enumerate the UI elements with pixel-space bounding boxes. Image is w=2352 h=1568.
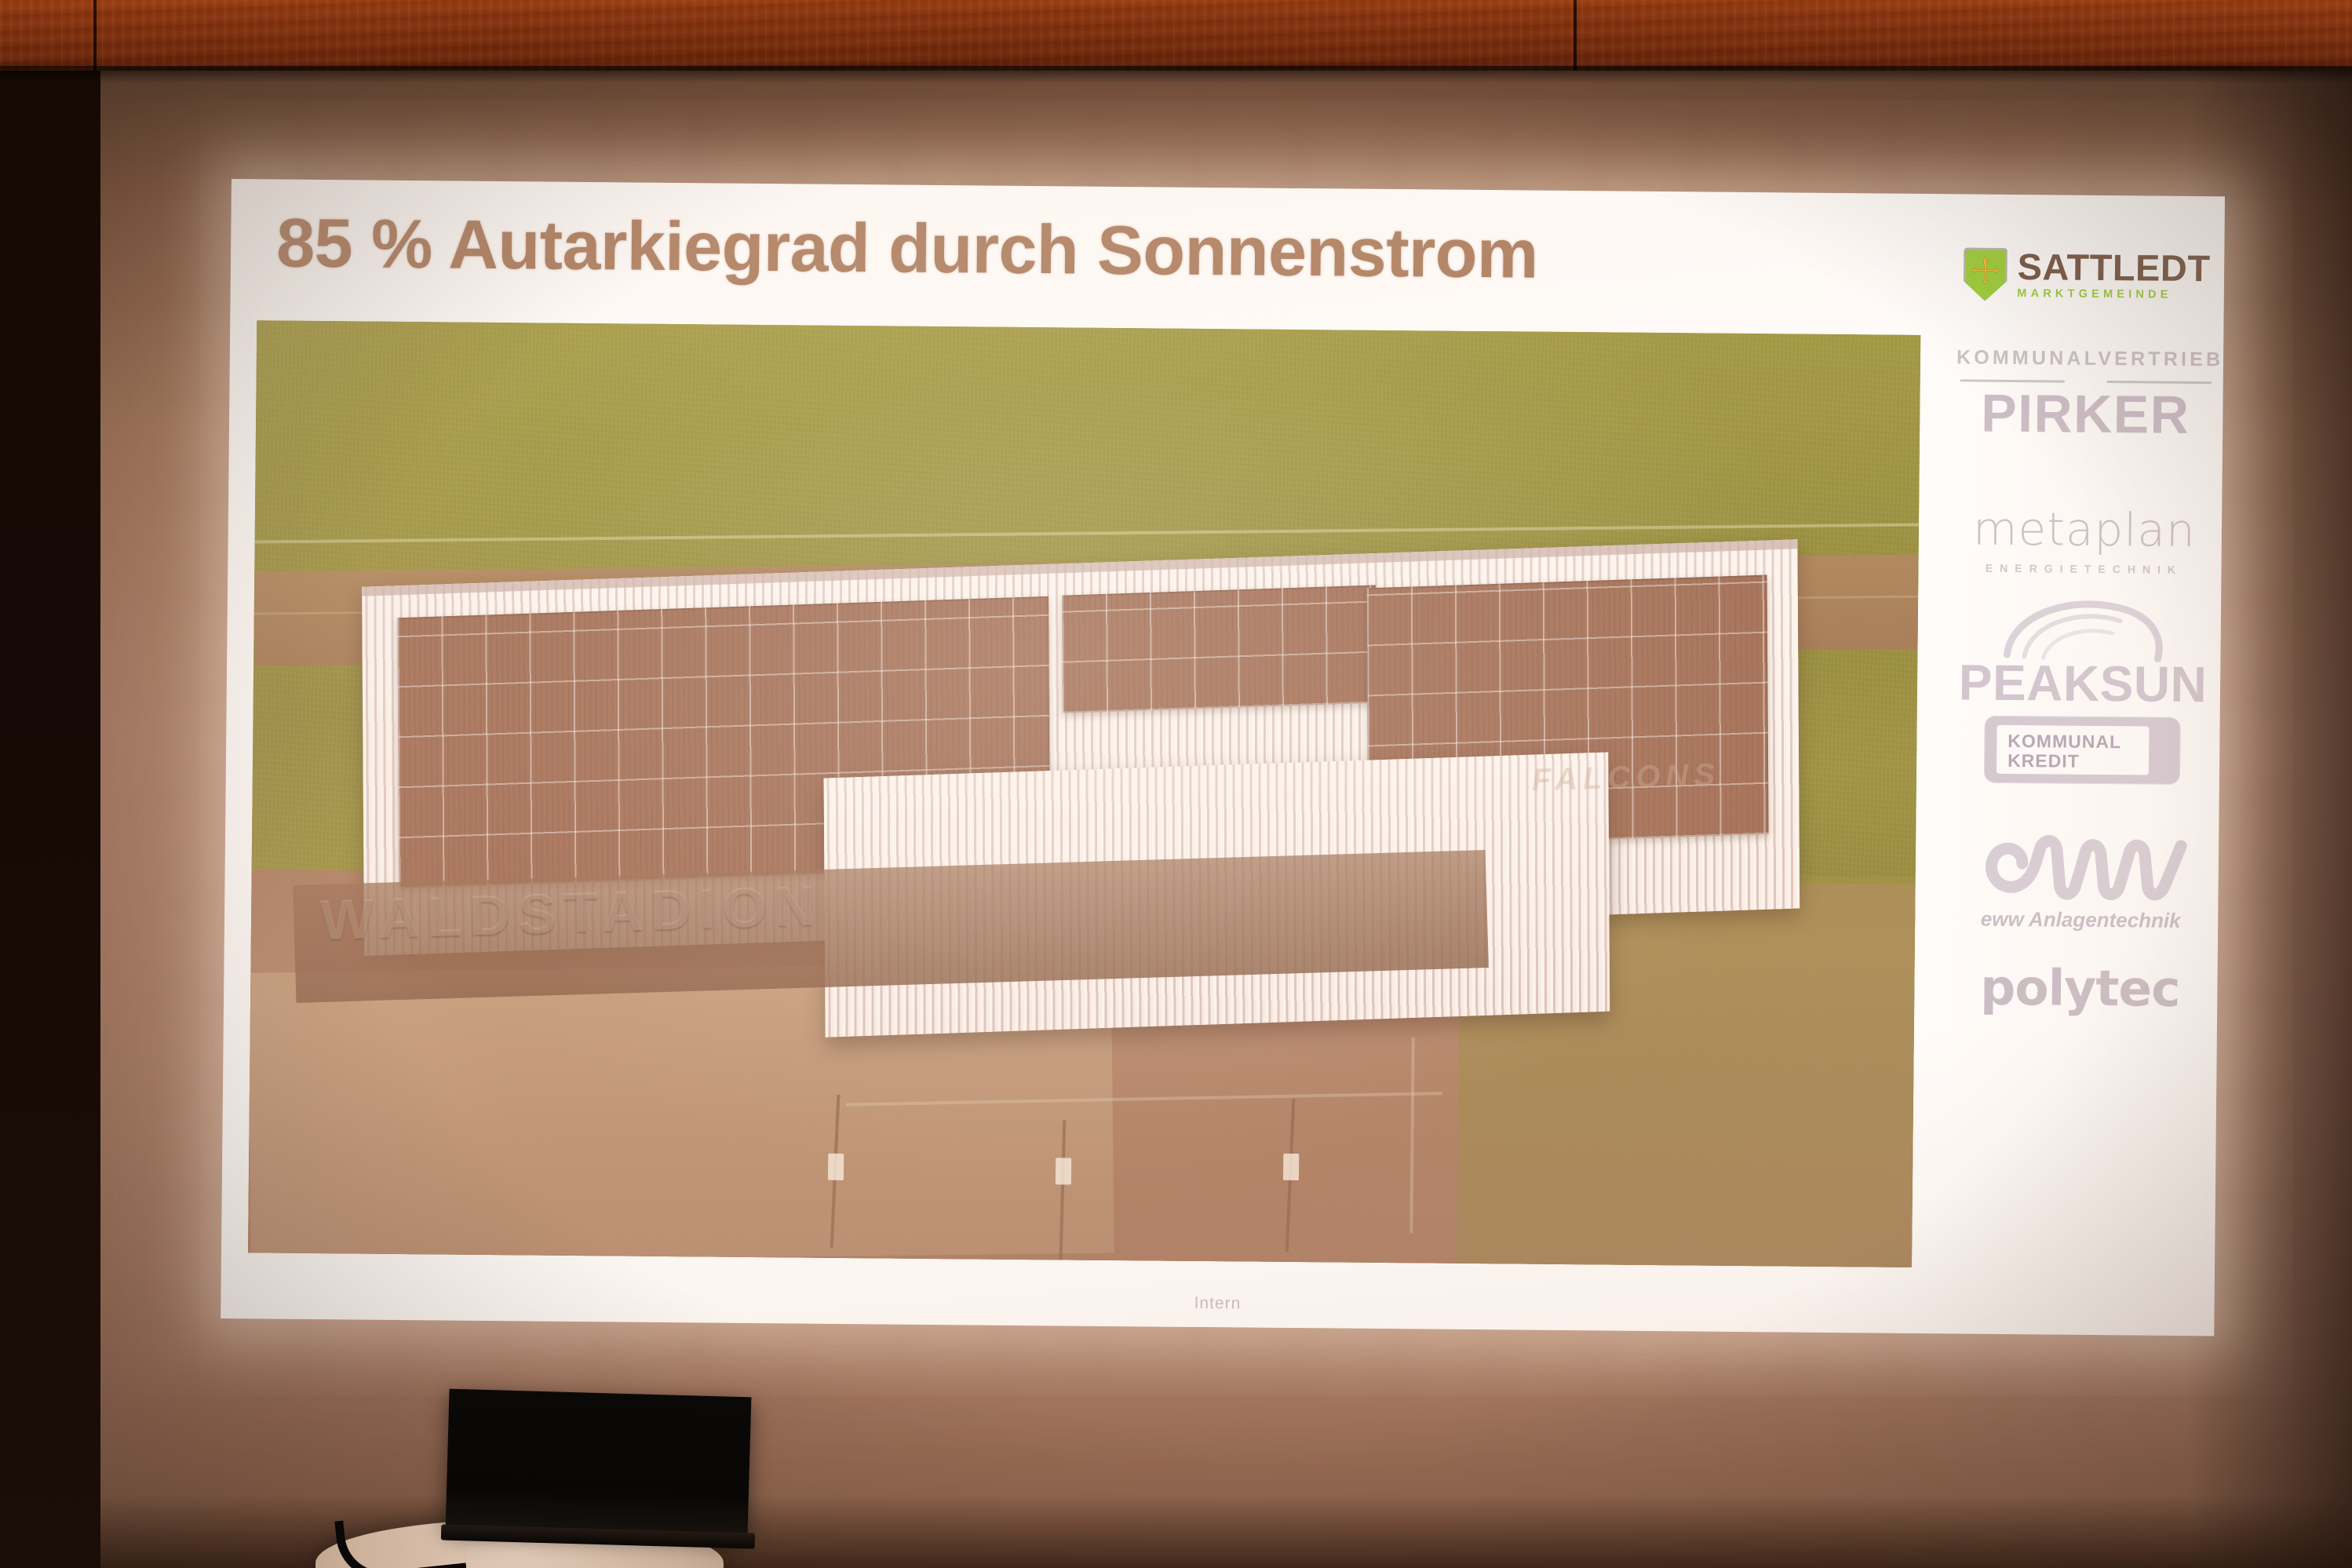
pirker-tagline: KOMMUNALVERTRIEB <box>1956 346 2215 371</box>
flagpole-head <box>1056 1158 1071 1184</box>
logo-sattledt: SATTLEDT MARKTGEMEINDE <box>1957 235 2217 315</box>
eww-script-icon <box>1951 825 2211 913</box>
kommunalkredit-line2: KREDIT <box>2007 751 2121 771</box>
wood-grain-texture <box>0 0 2352 71</box>
projected-slide[interactable]: 85 % Autarkiegrad durch Sonnenstrom <box>221 179 2225 1336</box>
wood-panel-shadow <box>0 66 2352 83</box>
flagpole-head <box>1283 1154 1299 1180</box>
pirker-name: PIRKER <box>1956 386 2215 442</box>
polytec-name: polytec <box>1950 958 2210 1018</box>
logo-polytec: polytec <box>1950 958 2210 1018</box>
logo-metaplan: metaplan ENERGIETECHNIK <box>1954 501 2214 576</box>
peaksun-name: PEAKSUN <box>1953 657 2213 709</box>
kommunalkredit-line1: KOMMUNAL <box>2007 731 2121 752</box>
metaplan-subtitle: ENERGIETECHNIK <box>1954 561 2213 576</box>
laptop[interactable] <box>446 1389 752 1539</box>
pv-cell-grid <box>1062 585 1377 713</box>
cross-arrow-icon <box>1969 257 2000 288</box>
logo-pirker: KOMMUNALVERTRIEB PIRKER <box>1956 346 2215 442</box>
sattledt-shield-icon <box>1963 247 2007 301</box>
peaksun-arc-icon <box>1953 596 2213 662</box>
slide-title: 85 % Autarkiegrad durch Sonnenstrom <box>276 201 1870 300</box>
sattledt-subtitle: MARKTGEMEINDE <box>2017 287 2210 301</box>
wood-seam <box>93 0 97 71</box>
logo-eww: eww Anlagentechnik <box>1951 825 2211 933</box>
conference-room: 85 % Autarkiegrad durch Sonnenstrom <box>0 0 2352 1568</box>
logo-kommunalkredit: KOMMUNAL KREDIT <box>1953 715 2212 785</box>
slide-footer: Intern <box>221 1285 2214 1322</box>
metaplan-name: metaplan <box>1955 501 2215 557</box>
dark-left-wall <box>0 0 100 1568</box>
slide-photo-aerial-solar-roof: WALDSTADION FALCONS <box>248 320 1920 1267</box>
solar-panel-array-top <box>1062 585 1377 713</box>
flagpole-head <box>828 1154 844 1180</box>
sponsor-logo-column: SATTLEDT MARKTGEMEINDE KOMMUNALVERTRIEB … <box>1947 205 2216 1322</box>
sattledt-name: SATTLEDT <box>2017 250 2210 286</box>
wood-ceiling-panel <box>0 0 2352 71</box>
kommunalkredit-badge: KOMMUNAL KREDIT <box>1984 716 2181 785</box>
wood-seam <box>1573 0 1577 71</box>
logo-peaksun: PEAKSUN <box>1953 596 2213 709</box>
banner-lettering: FALCONS <box>1531 757 1720 798</box>
